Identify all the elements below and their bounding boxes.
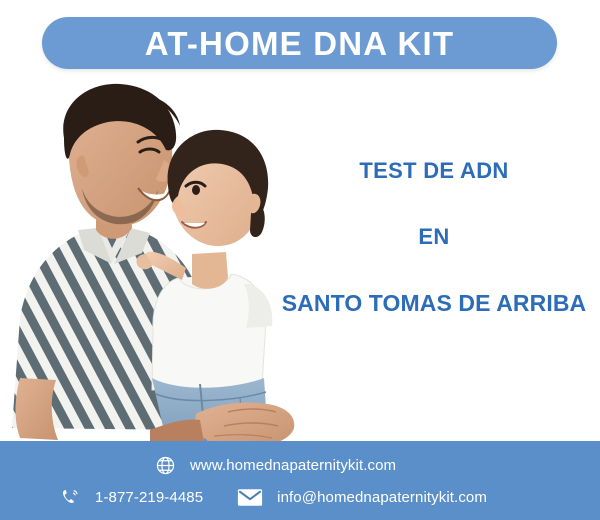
headline-block: TEST DE ADN EN SANTO TOMAS DE ARRIBA — [268, 160, 600, 315]
promo-banner: AT-HOME DNA KIT — [0, 0, 600, 520]
headline-line-service: TEST DE ADN — [268, 160, 600, 182]
footer-band — [0, 441, 600, 520]
header-banner: AT-HOME DNA KIT — [42, 17, 557, 69]
footer-contact-row[interactable]: 1-877-219-4485 info@homednapaternitykit.… — [60, 487, 487, 508]
globe-icon — [155, 455, 176, 476]
family-photo — [0, 78, 300, 458]
email-text[interactable]: info@homednapaternitykit.com — [277, 489, 487, 506]
footer-website-row[interactable]: www.homednapaternitykit.com — [155, 455, 396, 476]
headline-line-preposition: EN — [268, 226, 600, 248]
envelope-icon — [237, 488, 263, 507]
website-text[interactable]: www.homednapaternitykit.com — [190, 457, 396, 474]
headline-line-location: SANTO TOMAS DE ARRIBA — [268, 292, 600, 315]
phone-icon — [60, 487, 81, 508]
header-title: AT-HOME DNA KIT — [145, 27, 454, 60]
phone-text[interactable]: 1-877-219-4485 — [95, 489, 203, 506]
family-photo-illustration — [0, 78, 300, 458]
